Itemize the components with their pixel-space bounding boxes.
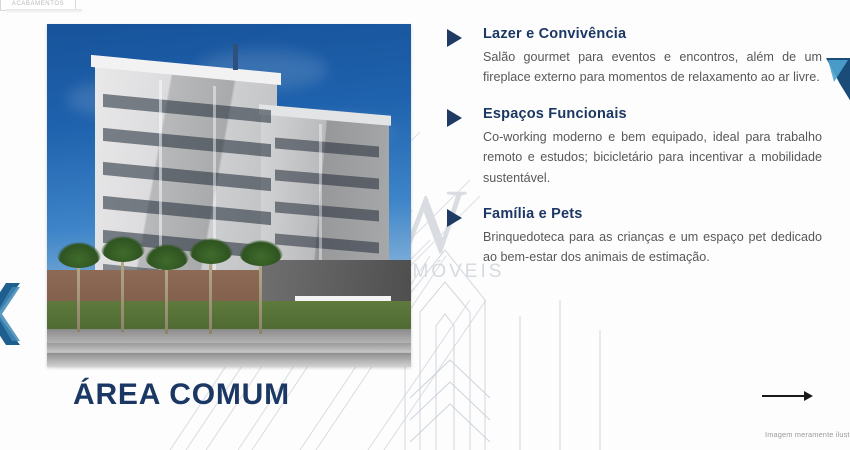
arrow-shaft xyxy=(762,395,806,397)
triangle-bullet-icon xyxy=(447,29,462,47)
palm-crown xyxy=(57,242,101,268)
next-slide-arrow-icon[interactable] xyxy=(762,390,814,402)
palm-trunk xyxy=(259,254,262,334)
street xyxy=(47,343,411,367)
palm-crown xyxy=(145,244,189,270)
feature-body: Co-working moderno e bem equipado, ideal… xyxy=(483,127,822,188)
top-tab-shadow xyxy=(6,9,82,13)
feature-item-lazer-e-convivencia: Lazer e Convivência Salão gourmet para e… xyxy=(447,26,822,88)
feature-body: Brinquedoteca para as crianças e um espa… xyxy=(483,227,822,268)
page-title: ÁREA COMUM xyxy=(73,378,290,412)
slide-area-comum: W TRA IMÓVEIS ACABAMENTOS xyxy=(0,0,850,450)
arrow-head xyxy=(804,391,813,401)
chevron-right-decoration-icon xyxy=(826,58,850,110)
feature-item-familia-e-pets: Família e Pets Brinquedoteca para as cri… xyxy=(447,206,822,268)
triangle-bullet-icon xyxy=(447,209,462,227)
footer-disclaimer: Imagem meramente ilustrativa xyxy=(765,430,850,439)
feature-body: Salão gourmet para eventos e encontros, … xyxy=(483,47,822,88)
feature-title: Família e Pets xyxy=(483,206,822,222)
feature-title: Espaços Funcionais xyxy=(483,106,822,122)
palm-trunk xyxy=(209,252,212,334)
palm-trunk xyxy=(121,250,124,332)
building-rendering-photo xyxy=(47,24,411,367)
palm-crown xyxy=(101,236,145,262)
triangle-bullet-icon xyxy=(447,109,462,127)
palm-crown xyxy=(189,238,233,264)
palm-crown xyxy=(239,240,283,266)
feature-item-espacos-funcionais: Espaços Funcionais Co-working moderno e … xyxy=(447,106,822,188)
roof-mast xyxy=(233,44,238,70)
chevron-left-decoration-icon xyxy=(0,283,20,345)
feature-list: Lazer e Convivência Salão gourmet para e… xyxy=(447,26,822,286)
feature-title: Lazer e Convivência xyxy=(483,26,822,42)
